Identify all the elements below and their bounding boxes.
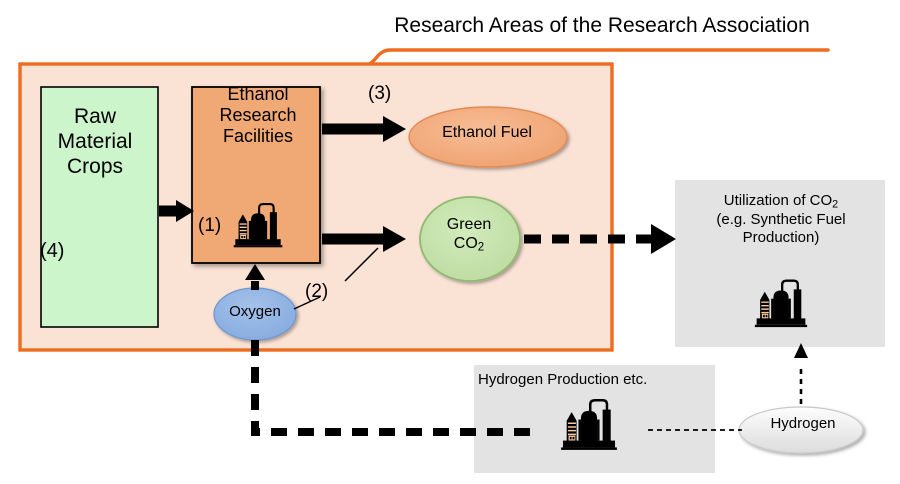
green-co2-subscript: 2 [478, 241, 484, 253]
raw-material-crops-number: (4) [40, 240, 80, 264]
connector-hydrogen-to-utilization [794, 343, 808, 404]
raw-material-crops-line3: Crops [30, 155, 160, 180]
hydrogen-production-label: Hydrogen Production etc. [478, 371, 728, 389]
oxygen-number: (2) [305, 281, 345, 303]
ethanol-fuel-number: (3) [368, 83, 408, 105]
green-co2-formula: CO [454, 235, 478, 252]
raw-material-crops-line1: Raw [30, 105, 160, 130]
green-co2-line2: CO2 [424, 235, 514, 255]
oxygen-label: Oxygen [213, 303, 297, 321]
utilization-of-co2-label: Utilization of CO2 (e.g. Synthetic Fuel … [678, 192, 884, 246]
ethanol-research-facilities-line2: Research [188, 105, 328, 126]
green-co2-line1: Green [424, 216, 514, 235]
green-co2-label: Green CO2 [424, 216, 514, 255]
utilization-subscript: 2 [832, 198, 838, 210]
utilization-line2: (e.g. Synthetic Fuel [678, 211, 884, 229]
utilization-line1: Utilization of CO2 [678, 192, 884, 211]
raw-material-crops-label: Raw Material Crops [30, 105, 160, 179]
utilization-line3: Production) [678, 229, 884, 247]
hydrogen-label: Hydrogen [738, 415, 868, 433]
ethanol-research-facilities-label: Ethanol Research Facilities [188, 84, 328, 148]
page-title: Research Areas of the Research Associati… [352, 14, 852, 39]
raw-material-crops-line2: Material [30, 130, 160, 155]
ethanol-research-facilities-line3: Facilities [188, 126, 328, 147]
diagram-canvas: Research Areas of the Research Associati… [0, 0, 900, 484]
utilization-text: Utilization of CO [724, 192, 832, 209]
ethanol-research-facilities-number: (1) [198, 215, 238, 237]
ethanol-fuel-label: Ethanol Fuel [412, 124, 562, 143]
ethanol-research-facilities-line1: Ethanol [188, 84, 328, 105]
